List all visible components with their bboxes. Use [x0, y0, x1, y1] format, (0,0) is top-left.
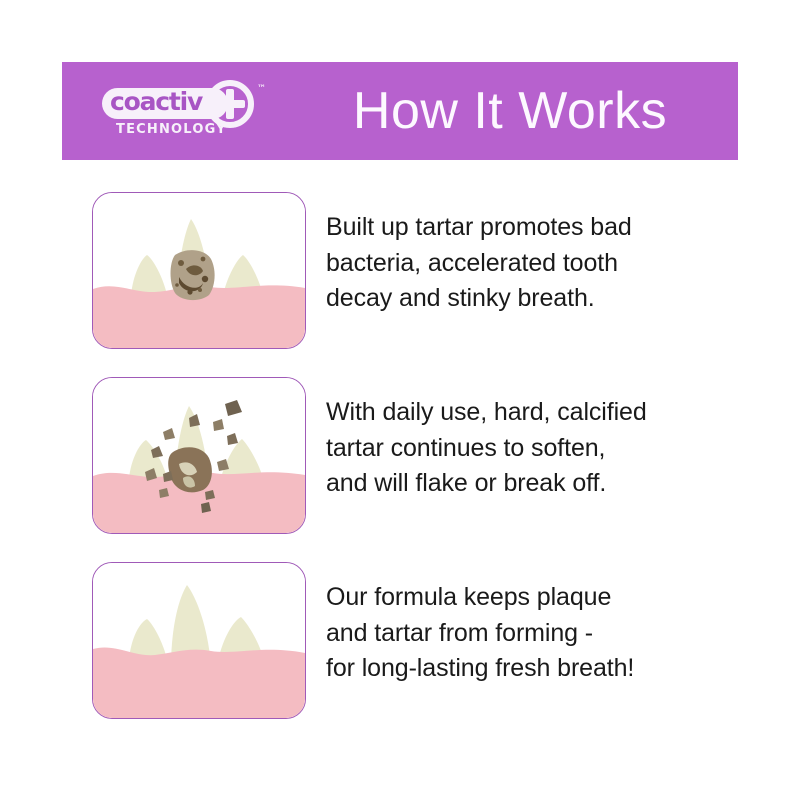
step-row: With daily use, hard, calcified tartar c… — [0, 371, 800, 556]
illustration-card-clean-teeth — [92, 562, 306, 719]
steps-list: Built up tartar promotes bad bacteria, a… — [0, 186, 800, 741]
step-text: With daily use, hard, calcified tartar c… — [326, 395, 706, 502]
plus-icon-horizontal-bar — [215, 100, 245, 108]
page-title: How It Works — [310, 85, 738, 137]
clean-healthy-teeth-illustration — [93, 563, 305, 718]
step-row: Built up tartar promotes bad bacteria, a… — [0, 186, 800, 371]
illustration-card-tartar-buildup — [92, 192, 306, 349]
step-text: Built up tartar promotes bad bacteria, a… — [326, 210, 706, 317]
tartar-flaking-off-illustration — [93, 378, 305, 533]
header-bar: coactiv ™ TECHNOLOGY How It Works — [62, 62, 738, 160]
step-row: Our formula keeps plaque and tartar from… — [0, 556, 800, 741]
illustration-card-tartar-flaking — [92, 377, 306, 534]
logo-subtitle: TECHNOLOGY — [116, 122, 227, 137]
coactiv-logo: coactiv ™ TECHNOLOGY — [62, 62, 310, 160]
teeth-with-tartar-buildup-illustration — [93, 193, 305, 348]
trademark-symbol: ™ — [257, 84, 266, 94]
logo-wordmark: coactiv — [110, 89, 202, 114]
step-text: Our formula keeps plaque and tartar from… — [326, 580, 706, 687]
